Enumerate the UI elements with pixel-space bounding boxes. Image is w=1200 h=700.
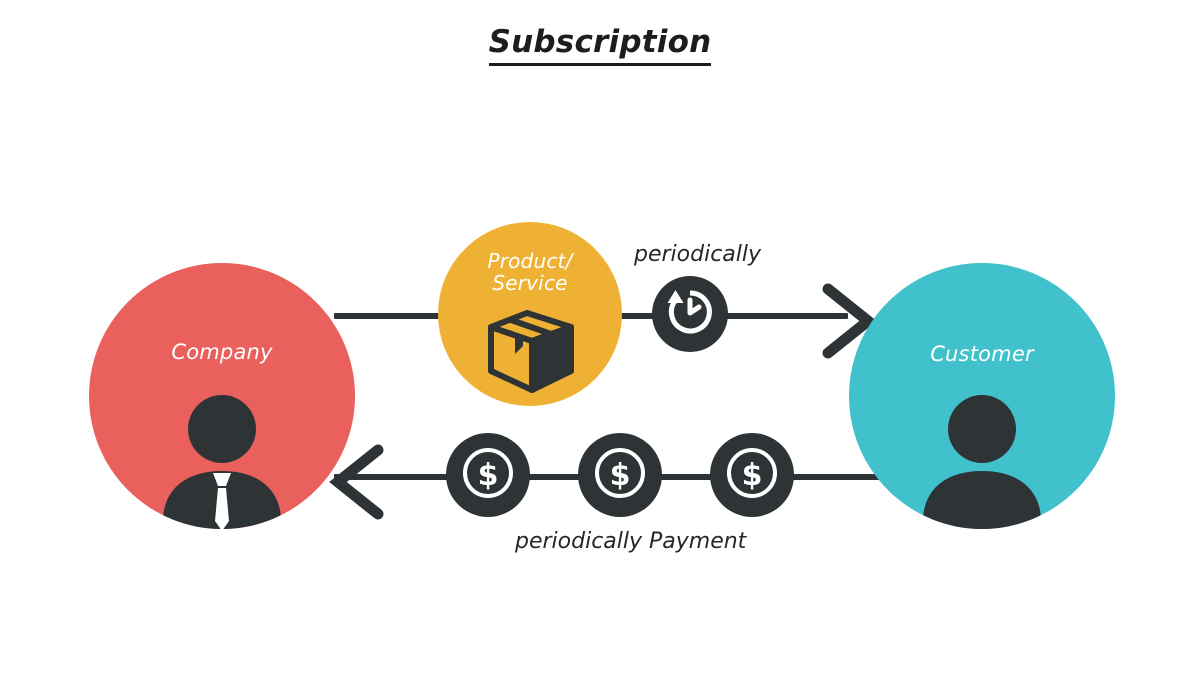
recurring-clock-icon [665, 287, 715, 341]
payment-flow-caption: periodically Payment [515, 529, 746, 554]
dollar-coin-icon: $ [593, 446, 647, 504]
payment-coin-badge[interactable]: $ [578, 433, 662, 517]
node-company[interactable]: Company [89, 263, 355, 529]
dollar-coin-icon: $ [461, 446, 515, 504]
node-product-service-label: Product/ Service [438, 250, 622, 295]
node-customer-label: Customer [849, 343, 1115, 367]
package-box-icon [485, 310, 577, 402]
page-title: Subscription [0, 24, 1200, 66]
node-company-label: Company [89, 341, 355, 365]
recurring-badge[interactable] [652, 276, 728, 352]
page-title-text: Subscription [489, 24, 712, 66]
svg-text:$: $ [478, 458, 499, 493]
payment-coin-badge[interactable]: $ [710, 433, 794, 517]
diagram-canvas: Subscription Company Product/ Servic [0, 0, 1200, 700]
node-product-service[interactable]: Product/ Service [438, 222, 622, 406]
delivery-flow-caption: periodically [634, 242, 761, 267]
businessman-icon [147, 393, 297, 529]
dollar-coin-icon: $ [725, 446, 779, 504]
svg-text:$: $ [610, 458, 631, 493]
person-icon [907, 393, 1057, 529]
payment-coin-badge[interactable]: $ [446, 433, 530, 517]
svg-text:$: $ [742, 458, 763, 493]
node-customer[interactable]: Customer [849, 263, 1115, 529]
